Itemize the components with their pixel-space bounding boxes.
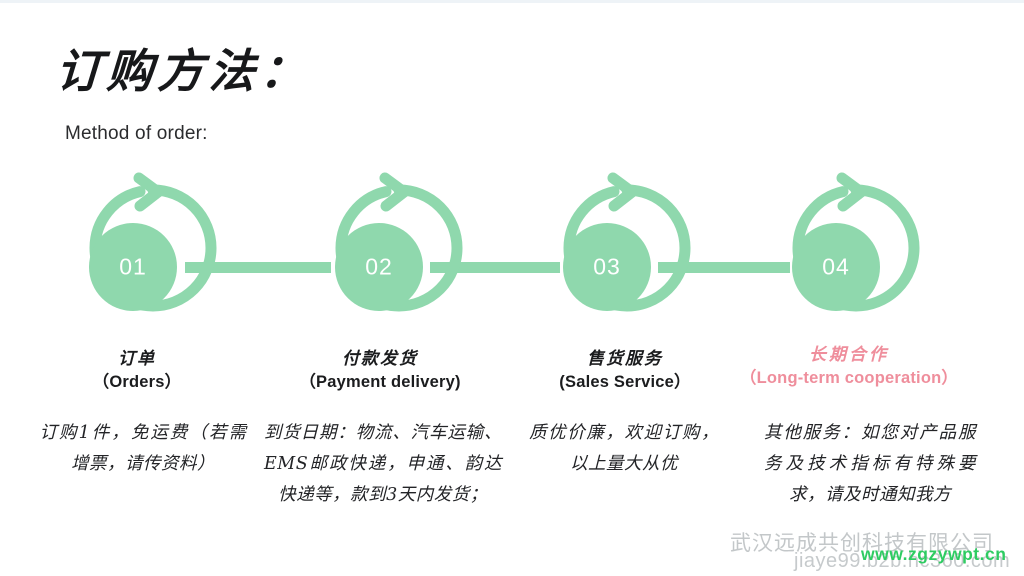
step-disc-02 xyxy=(335,223,423,311)
step-caption-02: 付款发货 （Payment delivery) xyxy=(299,349,460,394)
step-disc-03 xyxy=(563,223,651,311)
top-divider xyxy=(0,0,1024,3)
step-caption-cn-02: 付款发货 xyxy=(299,349,460,370)
watermark-url-primary: www.zgzywpt.cn xyxy=(861,544,1006,565)
step-caption-cn-03: 售货服务 xyxy=(559,349,690,370)
watermark-company: 武汉远成共创科技有限公司 xyxy=(730,527,994,557)
step-caption-en-04: （Long-term cooperation） xyxy=(740,368,958,389)
step-circle-01[interactable] xyxy=(89,178,211,311)
step-body-01: 订购1件，免运费（若需增票，请传资料） xyxy=(40,418,247,480)
step-disc-01 xyxy=(89,223,177,311)
step-caption-04: 长期合作 （Long-term cooperation） xyxy=(740,345,958,390)
step-disc-04 xyxy=(792,223,880,311)
step-circle-03[interactable] xyxy=(563,178,685,311)
step-body-02: 到货日期：物流、汽车运输、EMS邮政快递，申通、韵达快递等，款到3天内发货； xyxy=(264,418,502,511)
step-caption-en-01: （Orders） xyxy=(93,372,182,393)
step-caption-03: 售货服务 (Sales Service） xyxy=(559,349,690,394)
step-body-03: 质优价廉，欢迎订购，以上量大从优 xyxy=(529,418,719,480)
step-circle-02[interactable] xyxy=(335,178,457,311)
step-caption-cn-04: 长期合作 xyxy=(740,345,958,366)
process-diagram xyxy=(0,160,1024,330)
step-circle-04[interactable] xyxy=(792,178,914,311)
step-caption-en-02: （Payment delivery) xyxy=(299,372,460,393)
slide-canvas: 订购方法： Method of order: xyxy=(0,0,1024,576)
step-caption-en-03: (Sales Service） xyxy=(559,372,690,393)
step-caption-cn-01: 订单 xyxy=(93,349,182,370)
step-body-04: 其他服务：如您对产品服务及技术指标有特殊要求，请及时通知我方 xyxy=(764,418,976,511)
step-caption-01: 订单 （Orders） xyxy=(93,349,182,394)
watermark-url-secondary: jiaye99.b2b.hc360.com xyxy=(794,550,1010,573)
page-title: 订购方法： xyxy=(54,35,312,101)
page-subtitle: Method of order: xyxy=(65,123,208,145)
